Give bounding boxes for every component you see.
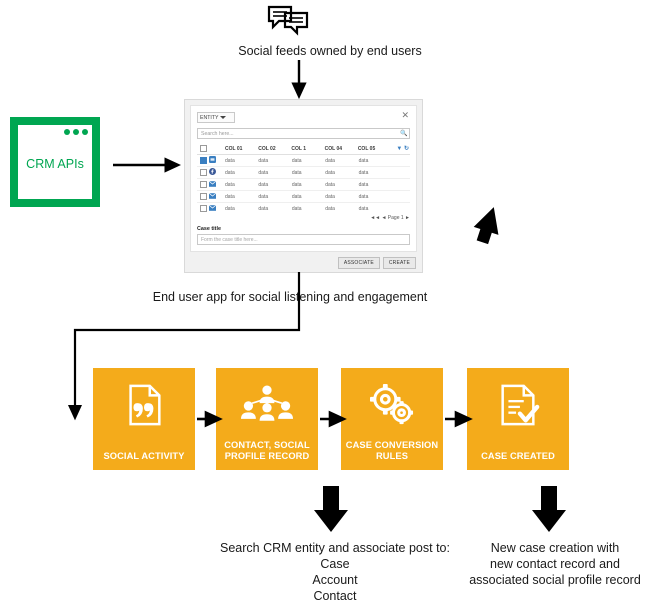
cell-0-3: data — [323, 158, 356, 164]
process-box-label: SOCIAL ACTIVITY — [97, 451, 191, 462]
table-row[interactable]: data data data data data — [197, 155, 410, 167]
process-box-case-created[interactable]: CASE CREATED — [467, 368, 569, 470]
cell-0-1: data — [256, 158, 289, 164]
refresh-icon[interactable]: ↻ — [404, 146, 409, 152]
funnel-icon[interactable]: ▼ — [396, 146, 402, 152]
people-network-icon — [216, 380, 318, 430]
column-header-4[interactable]: COL 05 — [356, 146, 389, 152]
caption-social-feeds: Social feeds owned by end users — [170, 44, 490, 58]
cell-4-3: data — [323, 206, 356, 212]
create-button[interactable]: CREATE — [383, 257, 416, 269]
process-box-label-line-1: CONTACT, SOCIAL — [224, 440, 310, 450]
process-box-label-line-2: RULES — [376, 451, 408, 461]
mail-icon — [209, 205, 223, 213]
column-header-1[interactable]: COL 02 — [256, 146, 289, 152]
cell-1-3: data — [323, 170, 356, 176]
cell-0-2: data — [290, 158, 323, 164]
cell-1-0: data — [223, 170, 256, 176]
arrow-case-down — [532, 486, 566, 532]
cell-4-2: data — [290, 206, 323, 212]
entity-select-value: ENTITY — [200, 115, 218, 121]
process-box-label-line-1: CASE CONVERSION — [346, 440, 438, 450]
cell-3-3: data — [323, 194, 356, 200]
cell-1-4: data — [357, 170, 390, 176]
cell-2-0: data — [223, 182, 256, 188]
cell-1-1: data — [256, 170, 289, 176]
records-grid: COL 01 COL 02 COL 1 COL 04 COL 05 ▼ ↻ da… — [197, 143, 410, 213]
magnifier-icon[interactable]: 🔍 — [400, 131, 406, 137]
arrow-contact-down — [314, 486, 348, 532]
process-box-social-activity[interactable]: SOCIAL ACTIVITY — [93, 368, 195, 470]
cell-3-1: data — [256, 194, 289, 200]
window-dots — [64, 129, 88, 135]
row-checkbox[interactable] — [197, 169, 209, 176]
cell-2-3: data — [323, 182, 356, 188]
row-checkbox[interactable] — [197, 193, 209, 200]
cell-2-1: data — [256, 182, 289, 188]
caption-search-crm-line-3: Account — [190, 572, 480, 588]
process-box-case-conversion-rules[interactable]: CASE CONVERSION RULES — [341, 368, 443, 470]
caption-search-crm-line-1: Search CRM entity and associate post to: — [190, 540, 480, 556]
process-box-label: CASE CONVERSION RULES — [345, 440, 439, 462]
caption-search-crm-line-4: Contact — [190, 588, 480, 604]
caption-new-case-line-1: New case creation with — [455, 540, 655, 556]
row-checkbox[interactable] — [197, 205, 209, 212]
cell-0-0: data — [223, 158, 256, 164]
app-window-inner: ✕ ENTITY Search here... 🔍 COL 01 COL 02 … — [190, 105, 417, 252]
cell-4-4: data — [357, 206, 390, 212]
end-user-app-window: ✕ ENTITY Search here... 🔍 COL 01 COL 02 … — [184, 99, 423, 273]
column-header-0[interactable]: COL 01 — [223, 146, 256, 152]
speech-bubbles-icon — [266, 4, 310, 36]
entity-select[interactable]: ENTITY — [197, 112, 235, 123]
process-box-label-line-2: PROFILE RECORD — [225, 451, 310, 461]
process-box-label: CASE CREATED — [471, 451, 565, 462]
chevron-down-icon — [220, 116, 226, 119]
caption-new-case-line-2: new contact record and — [455, 556, 655, 572]
cell-4-1: data — [256, 206, 289, 212]
crm-apis-box: CRM APIs — [10, 117, 100, 207]
facebook-icon — [209, 168, 223, 177]
cell-4-0: data — [223, 206, 256, 212]
cell-0-4: data — [357, 158, 390, 164]
caption-enduser-app: End user app for social listening and en… — [70, 290, 510, 304]
document-check-icon — [467, 380, 569, 430]
grid-header-row: COL 01 COL 02 COL 1 COL 04 COL 05 ▼ ↻ — [197, 143, 410, 155]
case-title-placeholder: Form the case title here... — [201, 237, 258, 243]
caption-search-crm: Search CRM entity and associate post to:… — [190, 540, 480, 604]
mail-icon — [209, 193, 223, 201]
process-box-label: CONTACT, SOCIAL PROFILE RECORD — [220, 440, 314, 462]
process-box-contact-social-profile-record[interactable]: CONTACT, SOCIAL PROFILE RECORD — [216, 368, 318, 470]
connector-arrows — [0, 0, 660, 611]
grid-tools[interactable]: ▼ ↻ — [389, 145, 410, 152]
pager[interactable]: ◄◄ ◄ Page 1 ► — [197, 215, 410, 221]
associate-button[interactable]: ASSOCIATE — [338, 257, 380, 269]
arrow-window-down-right — [470, 203, 506, 246]
twitter-icon — [209, 156, 223, 165]
table-row[interactable]: data data data data data — [197, 179, 410, 191]
column-header-2[interactable]: COL 1 — [289, 146, 322, 152]
table-row[interactable]: data data data data data — [197, 167, 410, 179]
mail-icon — [209, 181, 223, 189]
caption-new-case-line-3: associated social profile record — [455, 572, 655, 588]
gears-icon — [341, 380, 443, 430]
cell-2-4: data — [357, 182, 390, 188]
row-checkbox[interactable] — [197, 157, 209, 164]
cell-3-0: data — [223, 194, 256, 200]
table-row[interactable]: data data data data data — [197, 203, 410, 214]
cell-3-4: data — [357, 194, 390, 200]
close-icon[interactable]: ✕ — [401, 111, 409, 120]
browser-window-icon — [18, 125, 92, 141]
case-title-label: Case title — [197, 226, 221, 232]
caption-search-crm-line-2: Case — [190, 556, 480, 572]
row-checkbox[interactable] — [197, 181, 209, 188]
quote-document-icon — [93, 380, 195, 430]
window-buttons: ASSOCIATE CREATE — [338, 257, 416, 269]
table-row[interactable]: data data data data data — [197, 191, 410, 203]
select-all-checkbox[interactable] — [197, 145, 209, 152]
case-title-input[interactable]: Form the case title here... — [197, 234, 410, 245]
crm-apis-label: CRM APIs — [10, 157, 100, 171]
cell-1-2: data — [290, 170, 323, 176]
caption-new-case: New case creation with new contact recor… — [455, 540, 655, 588]
search-placeholder: Search here... — [201, 131, 234, 137]
column-header-3[interactable]: COL 04 — [323, 146, 356, 152]
cell-2-2: data — [290, 182, 323, 188]
search-input[interactable]: Search here... 🔍 — [197, 128, 410, 139]
cell-3-2: data — [290, 194, 323, 200]
